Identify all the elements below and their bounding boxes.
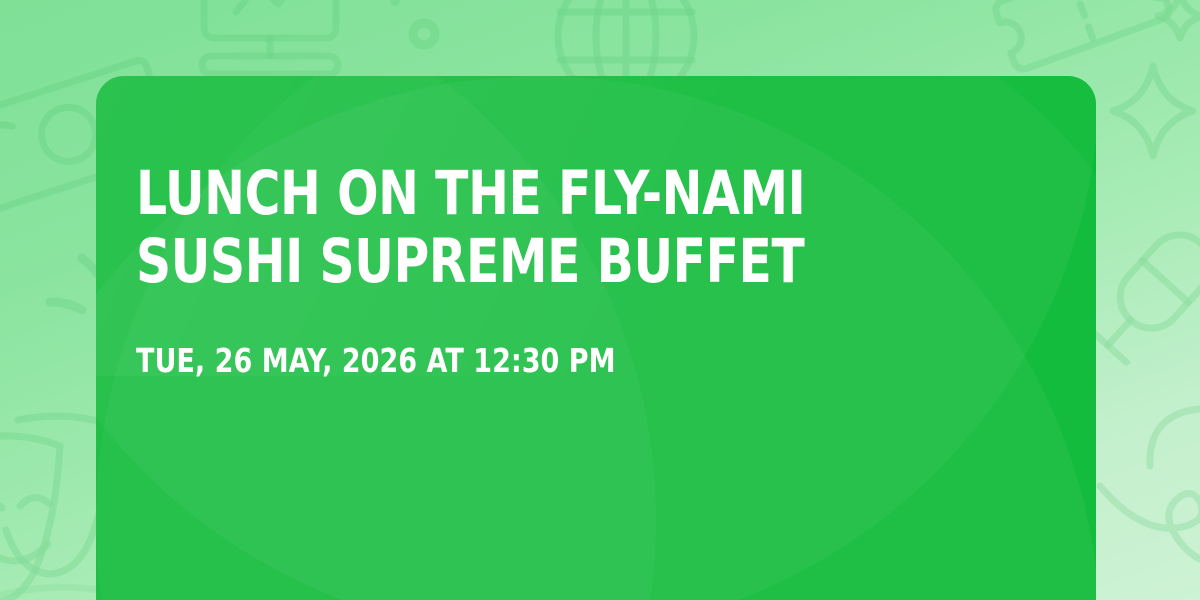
card-content: Lunch on the Fly-Nami Sushi Supreme Buff… [136, 160, 1036, 380]
sparkle-icon [1098, 56, 1200, 166]
event-title: Lunch on the Fly-Nami Sushi Supreme Buff… [136, 160, 856, 297]
event-card: Lunch on the Fly-Nami Sushi Supreme Buff… [96, 76, 1096, 600]
ring-icon [404, 14, 444, 54]
event-banner: Lunch on the Fly-Nami Sushi Supreme Buff… [0, 0, 1200, 600]
swirl-top-icon [1140, 392, 1200, 502]
dot-icon [384, 0, 406, 12]
sparkle-small-icon [1150, 0, 1200, 46]
event-datetime: Tue, 26 May, 2026 at 12:30 PM [136, 341, 874, 380]
